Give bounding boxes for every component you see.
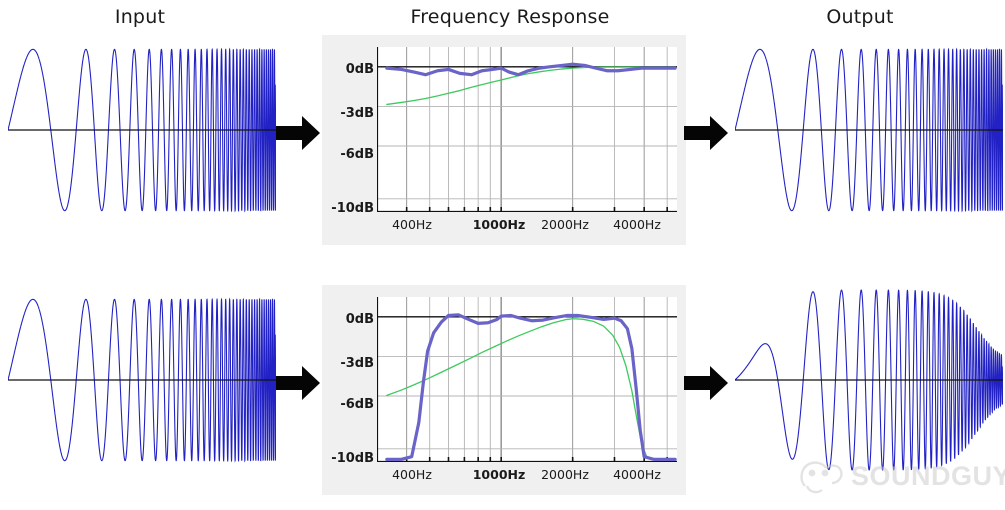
row-flat-response: 0dB -3dB -6dB -10dB 400Hz 1000Hz 2000Hz … [0, 35, 1005, 260]
output-waveform-bandpass-svg [735, 285, 1003, 475]
xtick-label: 400Hz [377, 217, 447, 232]
chart-bandpass-plot-area [377, 297, 677, 462]
page-title-freq: Frequency Response [390, 6, 630, 28]
ytick-label: -3dB [314, 356, 374, 371]
page-title-input: Input [60, 6, 220, 28]
output-waveform-flat-svg [735, 35, 1003, 225]
chart-bandpass-svg [377, 297, 677, 462]
ytick-label: -10dB [314, 451, 374, 466]
xtick-label: 1000Hz [464, 467, 534, 482]
input-waveform-bandpass [8, 285, 276, 475]
arrow-filter-to-output-row2 [682, 363, 730, 403]
chart-bandpass-response: 0dB -3dB -6dB -10dB 400Hz 1000Hz 2000Hz … [322, 285, 686, 495]
row-bandpass-response: 0dB -3dB -6dB -10dB 400Hz 1000Hz 2000Hz … [0, 285, 1005, 510]
ytick-label: 0dB [314, 312, 374, 327]
output-waveform-bandpass [735, 285, 1003, 475]
arrow-filter-to-output-row1 [682, 113, 730, 153]
xtick-label: 2000Hz [530, 217, 600, 232]
input-waveform-flat-svg [8, 35, 276, 225]
input-waveform-flat [8, 35, 276, 225]
ytick-label: -3dB [314, 106, 374, 121]
arrow-right-icon [682, 363, 730, 403]
ytick-label: 0dB [314, 62, 374, 77]
ytick-label: -10dB [314, 201, 374, 216]
xtick-label: 4000Hz [602, 217, 672, 232]
page-title-output: Output [780, 6, 940, 28]
xtick-label: 2000Hz [530, 467, 600, 482]
xtick-label: 1000Hz [464, 217, 534, 232]
ytick-label: -6dB [314, 397, 374, 412]
output-waveform-flat [735, 35, 1003, 225]
xtick-label: 4000Hz [602, 467, 672, 482]
ytick-label: -6dB [314, 147, 374, 162]
xtick-label: 400Hz [377, 467, 447, 482]
chart-flat-svg [377, 47, 677, 212]
chart-flat-plot-area [377, 47, 677, 212]
input-waveform-bandpass-svg [8, 285, 276, 475]
chart-flat-response: 0dB -3dB -6dB -10dB 400Hz 1000Hz 2000Hz … [322, 35, 686, 245]
arrow-right-icon [682, 113, 730, 153]
figure-root: Input Frequency Response Output 0dB -3dB… [0, 0, 1005, 505]
